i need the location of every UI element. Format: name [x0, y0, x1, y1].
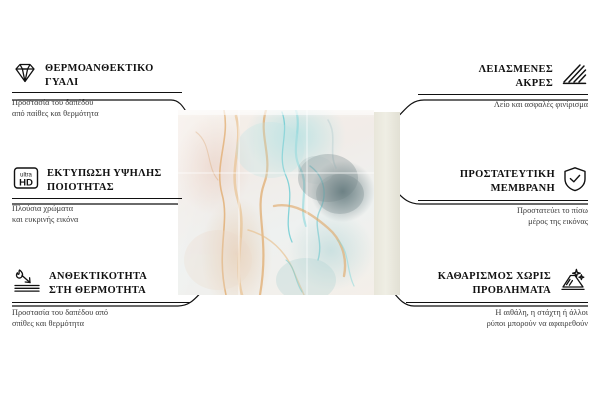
feature-smoothed-edges: ΛΕΙΑΣΜΕΝΕΣ ΑΚΡΕΣ Λείο και ασφαλές φινίρι…: [418, 62, 588, 110]
feature-subtitle: Προστατεύει το πίσω μέρος της εικόνας: [418, 201, 588, 228]
ultra-hd-icon: ultra HD: [12, 166, 40, 195]
feature-subtitle: Προστασία του δαπέδου από παίθες και θερ…: [12, 93, 182, 120]
feature-easy-cleaning: ΚΑΘΑΡΙΣΜΟΣ ΧΩΡΙΣ ΠΡΟΒΛΗΜΑΤΑ Η αιθάλη, η …: [406, 268, 588, 330]
svg-text:HD: HD: [19, 177, 33, 188]
feature-subtitle: Προστασία του δαπέδου από σπίθες και θερ…: [12, 303, 190, 330]
hatched-triangle-icon: [560, 62, 588, 91]
feature-title: ΘΕΡΜΟΑΝΘΕΚΤΙΚΟ ΓΥΑΛΙ: [45, 62, 154, 89]
feature-heat-durability: ΑΝΘΕΚΤΙΚΟΤΗΤΑ ΣΤΗ ΘΕΡΜΟΤΗΤΑ Προστασία το…: [12, 268, 190, 330]
feature-high-quality-print: ultra HD ΕΚΤΥΠΩΣΗ ΥΨΗΛΗΣ ΠΟΙΟΤΗΤΑΣ Πλούσ…: [12, 166, 182, 226]
feature-header: ΚΑΘΑΡΙΣΜΟΣ ΧΩΡΙΣ ΠΡΟΒΛΗΜΑΤΑ: [406, 268, 588, 299]
feature-subtitle: Πλούσια χρώματα και ευκρινής εικόνα: [12, 199, 182, 226]
product-image: [178, 110, 400, 295]
feature-subtitle: Λείο και ασφαλές φινίρισμα: [418, 95, 588, 110]
feature-header: ultra HD ΕΚΤΥΠΩΣΗ ΥΨΗΛΗΣ ΠΟΙΟΤΗΤΑΣ: [12, 166, 182, 195]
feature-title: ΚΑΘΑΡΙΣΜΟΣ ΧΩΡΙΣ ΠΡΟΒΛΗΜΑΤΑ: [438, 270, 551, 297]
feature-title: ΕΚΤΥΠΩΣΗ ΥΨΗΛΗΣ ΠΟΙΟΤΗΤΑΣ: [47, 167, 162, 194]
glass-reflection-overlay: [178, 110, 374, 295]
feature-header: ΛΕΙΑΣΜΕΝΕΣ ΑΚΡΕΣ: [418, 62, 588, 91]
feature-title: ΛΕΙΑΣΜΕΝΕΣ ΑΚΡΕΣ: [479, 63, 553, 90]
feature-heat-resistant-glass: ΘΕΡΜΟΑΝΘΕΚΤΙΚΟ ΓΥΑΛΙ Προστασία του δαπέδ…: [12, 62, 182, 120]
flame-deflect-icon: [12, 268, 42, 299]
infographic-canvas: ΘΕΡΜΟΑΝΘΕΚΤΙΚΟ ΓΥΑΛΙ Προστασία του δαπέδ…: [0, 0, 600, 400]
diamond-icon: [12, 62, 38, 89]
glass-panel-artwork: [178, 110, 374, 295]
feature-subtitle: Η αιθάλη, η στάχτη ή άλλοι ρύποι μπορούν…: [406, 303, 588, 330]
panel-side-edge: [374, 112, 400, 295]
wipe-sparkle-icon: [558, 268, 588, 299]
feature-title: ΠΡΟΣΤΑΤΕΥΤΙΚΗ ΜΕΜΒΡΑΝΗ: [460, 168, 555, 195]
feature-title: ΑΝΘΕΚΤΙΚΟΤΗΤΑ ΣΤΗ ΘΕΡΜΟΤΗΤΑ: [49, 270, 147, 297]
shield-check-icon: [562, 166, 588, 197]
feature-header: ΑΝΘΕΚΤΙΚΟΤΗΤΑ ΣΤΗ ΘΕΡΜΟΤΗΤΑ: [12, 268, 190, 299]
feature-header: ΘΕΡΜΟΑΝΘΕΚΤΙΚΟ ΓΥΑΛΙ: [12, 62, 182, 89]
feature-protective-membrane: ΠΡΟΣΤΑΤΕΥΤΙΚΗ ΜΕΜΒΡΑΝΗ Προστατεύει το πί…: [418, 166, 588, 228]
feature-header: ΠΡΟΣΤΑΤΕΥΤΙΚΗ ΜΕΜΒΡΑΝΗ: [418, 166, 588, 197]
